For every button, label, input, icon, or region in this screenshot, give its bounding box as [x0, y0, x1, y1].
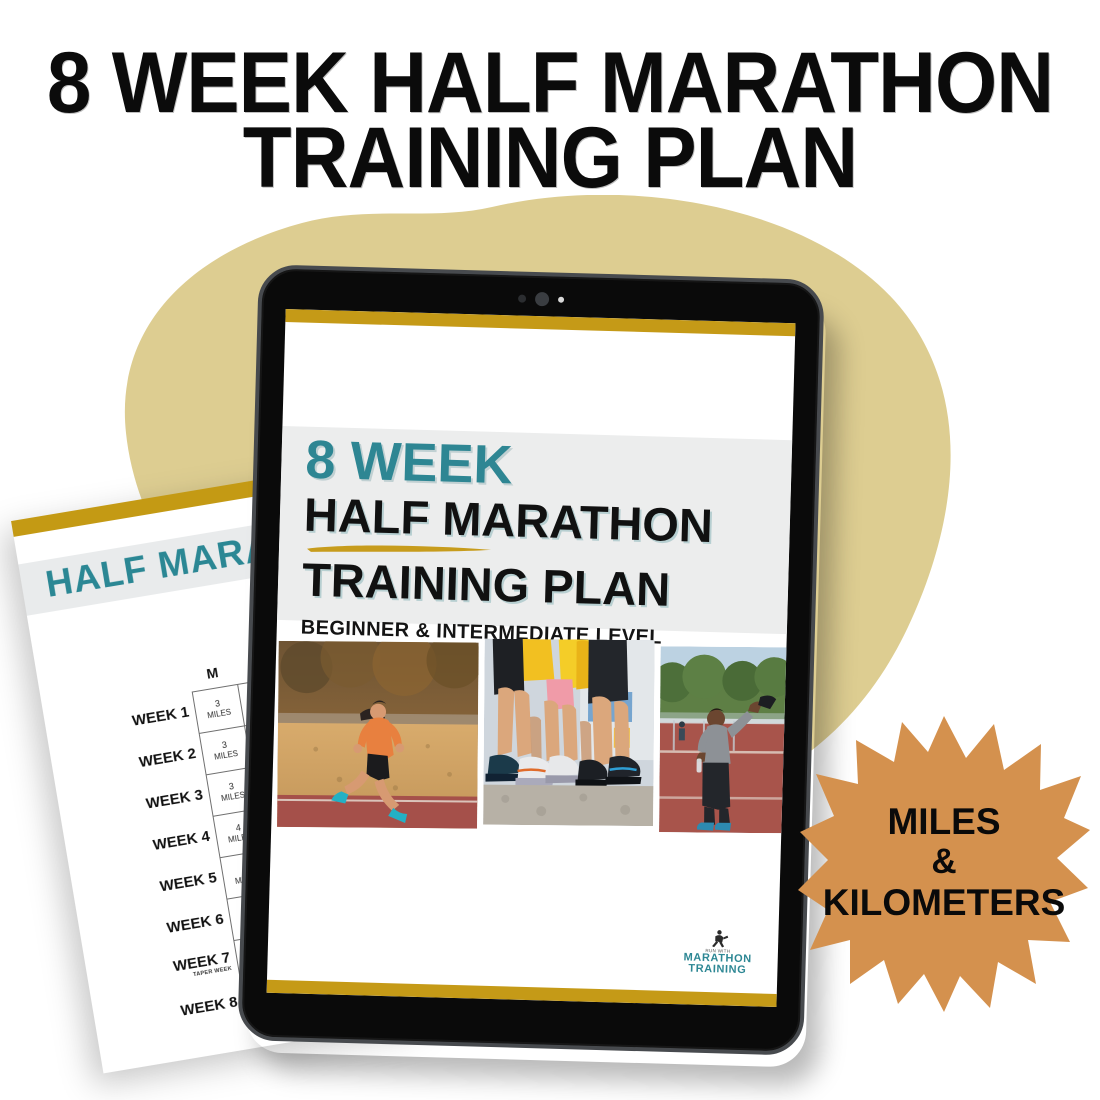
cover-title-group: 8 WEEK HALF MARATHON TRAINING PLAN BEGIN…	[300, 435, 765, 653]
runner-figure-icon	[708, 929, 728, 948]
week-label: WEEK 5	[158, 869, 218, 895]
week-label: WEEK 8	[179, 993, 239, 1019]
mockup-canvas: 8 WEEK HALF MARATHON TRAINING PLAN HALF …	[0, 0, 1100, 1100]
photo-race-start-legs	[483, 639, 655, 826]
cover-page: 8 WEEK HALF MARATHON TRAINING PLAN BEGIN…	[267, 322, 796, 1007]
photo-solo-runner-track	[277, 641, 479, 829]
week-label: WEEK 1	[131, 703, 191, 729]
logo-line-2: TRAINING	[683, 963, 751, 976]
cover-title-line-2: TRAINING PLAN	[302, 555, 762, 615]
page-title: 8 WEEK HALF MARATHON TRAINING PLAN	[0, 46, 1100, 196]
tablet-body: 8 WEEK HALF MARATHON TRAINING PLAN BEGIN…	[237, 264, 824, 1056]
week-label: WEEK 3	[145, 786, 205, 812]
page-title-line-1: 8 WEEK HALF MARATHON	[39, 46, 1062, 121]
tablet-camera-cluster	[262, 284, 820, 314]
cover-title-line-1: HALF MARATHON	[303, 490, 763, 550]
badge-starburst-shape[interactable]	[798, 712, 1090, 1012]
page-title-line-2: TRAINING PLAN	[39, 121, 1062, 196]
week-label: WEEK 2	[138, 744, 198, 770]
week-label: WEEK 4	[152, 827, 212, 853]
cover-photo-strip	[277, 641, 789, 833]
sensor-dot-icon	[518, 295, 526, 303]
tablet-device[interactable]: 8 WEEK HALF MARATHON TRAINING PLAN BEGIN…	[237, 264, 824, 1056]
brand-logo: RUN WITH MARATHON TRAINING	[683, 928, 752, 976]
flash-dot-icon	[558, 297, 564, 303]
photo-runner-high-five	[659, 646, 789, 833]
front-camera-icon	[535, 292, 549, 306]
tablet-screen[interactable]: 8 WEEK HALF MARATHON TRAINING PLAN BEGIN…	[267, 309, 796, 1007]
week-label: WEEK 6	[165, 910, 225, 936]
